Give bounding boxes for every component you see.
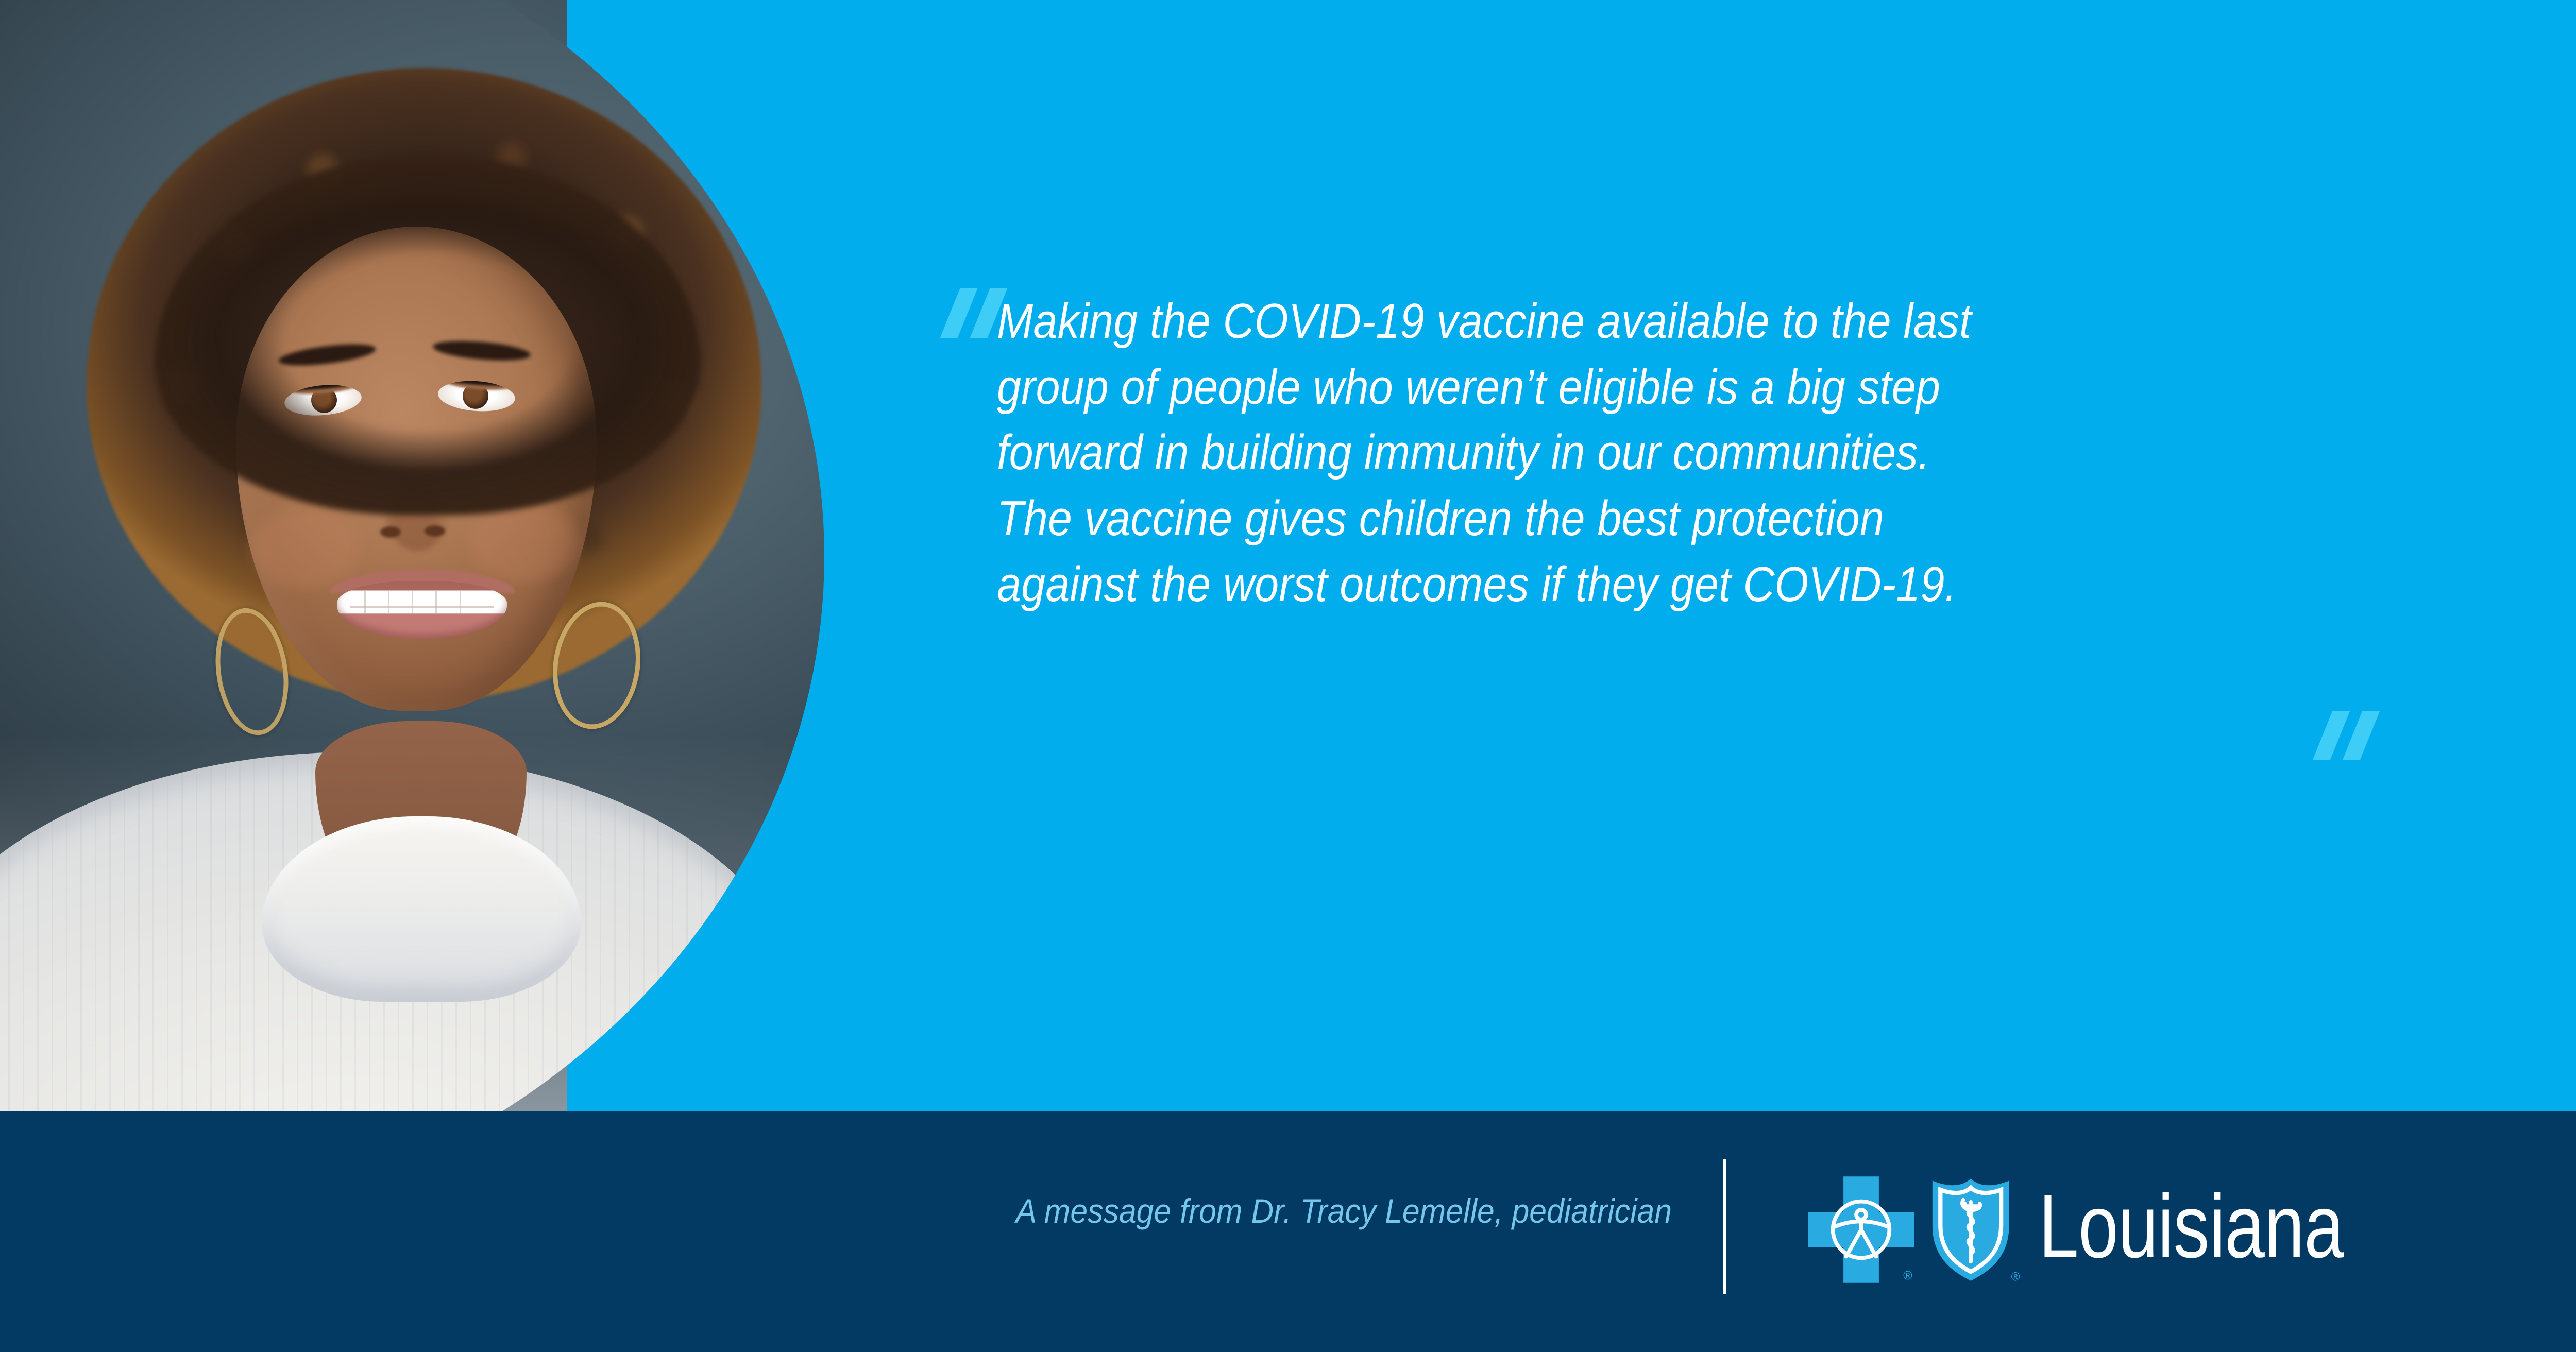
blue-shield-icon: ® (1925, 1174, 2025, 1285)
teeth-gap (460, 591, 461, 613)
quote-line: against the worst outcomes if they get C… (997, 552, 2266, 618)
registered-mark: ® (1903, 1269, 1912, 1282)
teeth-gap (435, 591, 437, 613)
portrait-subject (0, 0, 845, 1113)
blue-cross-icon: ® (1806, 1174, 1917, 1285)
closing-quote-icon (2319, 711, 2380, 760)
quote-line: forward in building immunity in our comm… (997, 420, 2266, 486)
teeth-gap (388, 591, 389, 613)
teeth-gap (364, 591, 366, 613)
nostril-left (380, 526, 401, 538)
attribution-text: A message from Dr. Tracy Lemelle, pediat… (586, 1194, 1672, 1228)
bcbs-louisiana-logo: ® ® Louisiana (1806, 1174, 2420, 1285)
footer-divider (1723, 1159, 1726, 1294)
quote-line: The vaccine gives children the best prot… (997, 486, 2266, 552)
logo-wordmark: Louisiana (2039, 1182, 2344, 1272)
teeth-gap (412, 591, 413, 613)
portrait-photo (0, 0, 845, 1113)
teeth-line (350, 606, 493, 608)
registered-mark: ® (2011, 1270, 2020, 1283)
quote-line: group of people who weren’t eligible is … (997, 354, 2266, 420)
promotional-banner: Making the COVID-19 vaccine available to… (0, 0, 2576, 1352)
quote-text: Making the COVID-19 vaccine available to… (997, 288, 2439, 617)
nostril-right (425, 525, 445, 537)
quote-line: Making the COVID-19 vaccine available to… (997, 288, 2266, 354)
